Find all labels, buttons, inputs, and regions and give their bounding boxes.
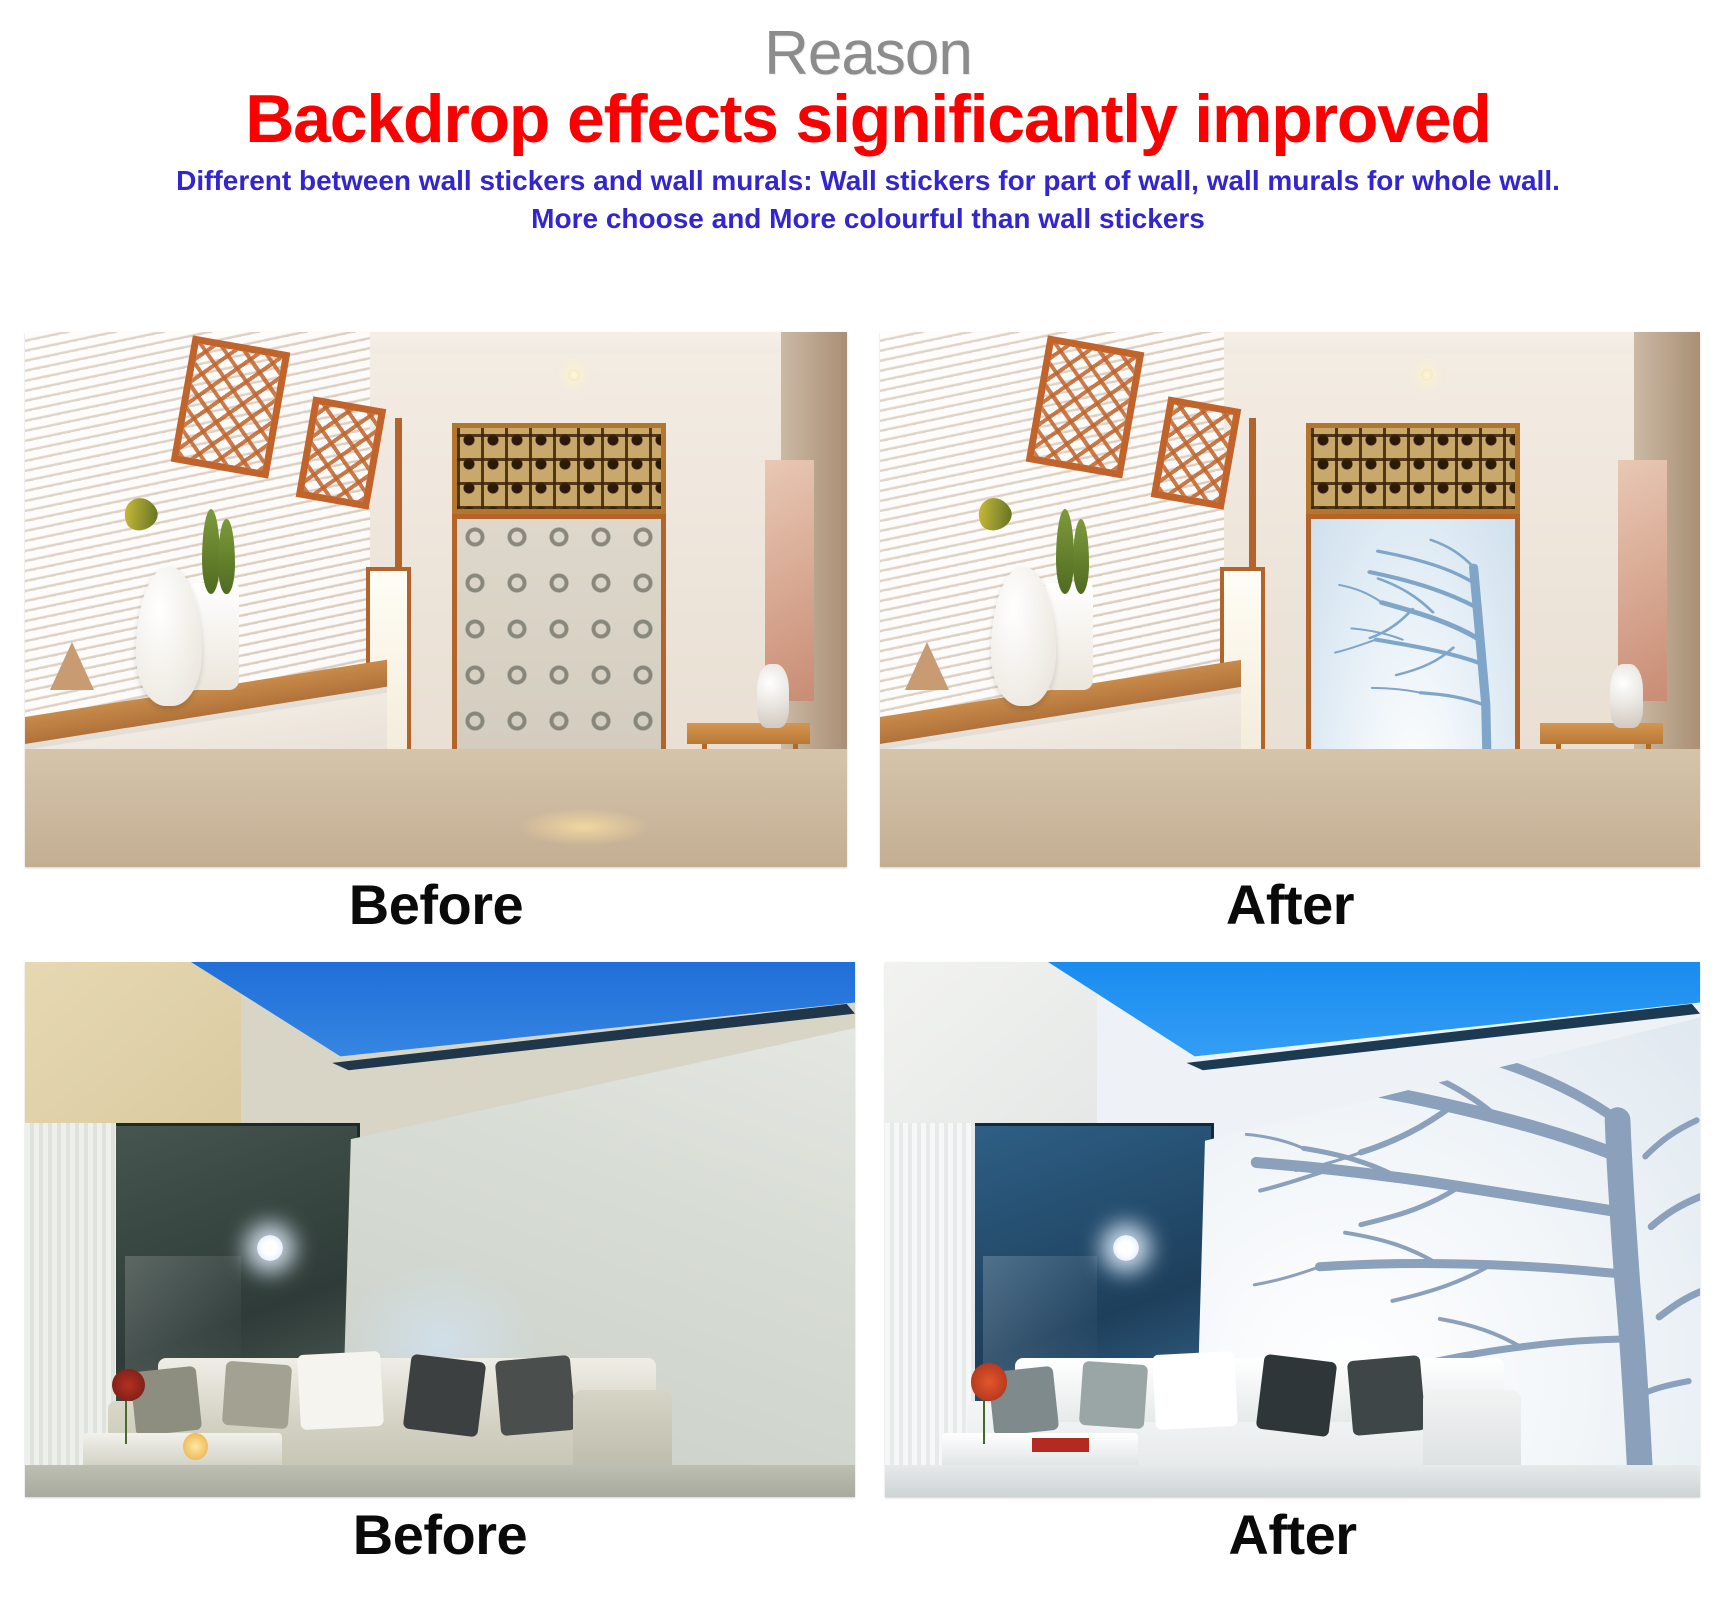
caption-livingroom-after: After [885,1505,1700,1565]
subtitle-line-1: Different between wall stickers and wall… [0,162,1736,200]
livingroom-scene-before [25,962,855,1497]
decor-triangle [905,642,949,690]
floor-light-glow [518,808,650,845]
hallway-scene-after [880,332,1700,867]
cushion-white-1 [297,1350,384,1429]
candle-light [183,1433,208,1460]
cushion-grey-2 [222,1361,293,1430]
panel-livingroom-before: Before [25,962,855,1497]
decor-triangle [50,642,94,690]
wall-spotlight [1113,1235,1139,1261]
side-table [1540,723,1663,744]
photo-hallway-before [25,332,847,867]
header: Reason Backdrop effects significantly im… [0,0,1736,238]
caption-hallway-before: Before [25,875,847,935]
ceiling-downlight [568,369,580,381]
cushion-grey-2 [1078,1361,1148,1430]
plant-leaf-1 [202,509,220,595]
glass-reflection [983,1256,1097,1374]
side-table [687,723,810,744]
eyebrow-title: Reason [0,22,1736,86]
floor [885,1465,1700,1497]
panel-livingroom-after: After [885,962,1700,1497]
comparison-grid: Before [0,332,1736,1602]
red-flowers [112,1369,145,1401]
table-ornament [1610,664,1643,728]
floor [880,749,1700,867]
red-flowers [971,1363,1008,1400]
subtitle-block: Different between wall stickers and wall… [0,162,1736,238]
table-ornament [757,664,790,728]
livingroom-scene-after [885,962,1700,1497]
ornamental-screen [1306,423,1519,514]
ornamental-screen [452,423,666,514]
comparison-row-top: Before [0,332,1736,662]
subtitle-line-2: More choose and More colourful than wall… [0,200,1736,238]
comparison-row-bottom: Before [0,962,1736,1602]
cushion-dark-2 [1346,1355,1426,1436]
caption-hallway-after: After [880,875,1700,935]
red-book [1032,1438,1089,1451]
caption-livingroom-before: Before [25,1505,855,1565]
hallway-scene-before [25,332,847,867]
cushion-dark-1 [403,1354,486,1437]
cushion-dark-2 [495,1355,576,1436]
floor [25,749,847,867]
page-headline: Backdrop effects significantly improved [0,82,1736,156]
panel-hallway-before: Before [25,332,847,867]
panel-hallway-after: After [880,332,1700,867]
photo-livingroom-before [25,962,855,1497]
photo-livingroom-after [885,962,1700,1497]
cushion-white-1 [1152,1350,1237,1429]
photo-hallway-after [880,332,1700,867]
floor [25,1465,855,1497]
glass-reflection [125,1256,241,1374]
cushion-dark-1 [1256,1354,1338,1437]
plant-leaf-2 [218,519,234,594]
